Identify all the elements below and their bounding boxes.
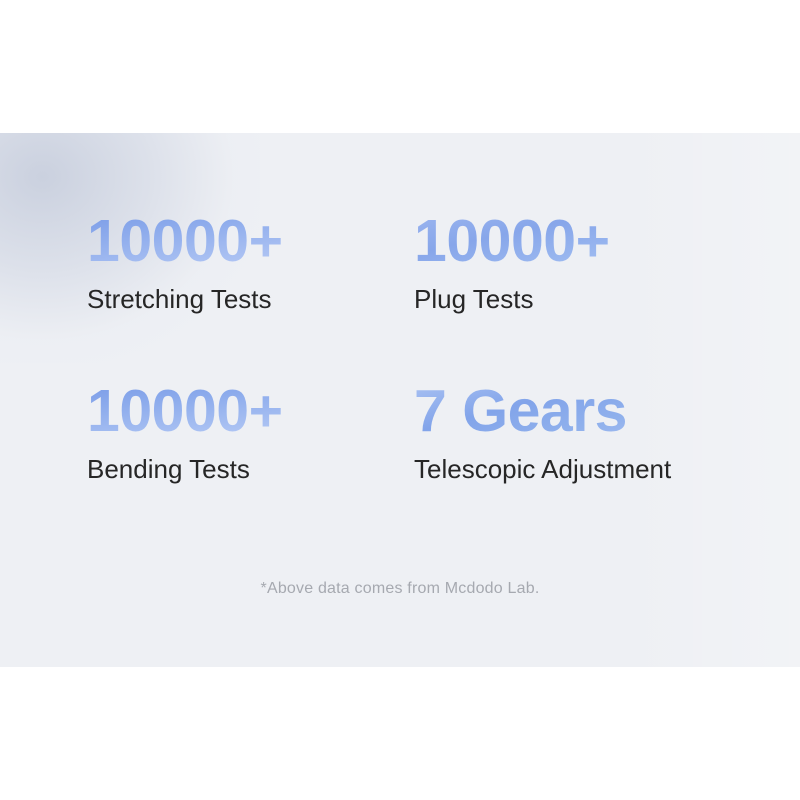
stat-label: Plug Tests bbox=[414, 285, 747, 314]
stat-label: Telescopic Adjustment bbox=[414, 455, 747, 484]
stats-grid: 10000+ Stretching Tests 10000+ Plug Test… bbox=[87, 212, 747, 484]
stat-value: 7 Gears bbox=[414, 382, 747, 441]
stat-item-bending-tests: 10000+ Bending Tests bbox=[87, 382, 414, 484]
stat-item-stretching-tests: 10000+ Stretching Tests bbox=[87, 212, 414, 382]
stat-value: 10000+ bbox=[87, 382, 414, 441]
stat-value: 10000+ bbox=[87, 212, 414, 271]
page-root: 10000+ Stretching Tests 10000+ Plug Test… bbox=[0, 0, 800, 800]
stat-item-telescopic-adjustment: 7 Gears Telescopic Adjustment bbox=[414, 382, 747, 484]
stat-item-plug-tests: 10000+ Plug Tests bbox=[414, 212, 747, 382]
stat-label: Bending Tests bbox=[87, 455, 414, 484]
data-source-footnote: *Above data comes from Mcdodo Lab. bbox=[0, 580, 800, 598]
stat-value: 10000+ bbox=[414, 212, 747, 271]
stat-label: Stretching Tests bbox=[87, 285, 414, 314]
